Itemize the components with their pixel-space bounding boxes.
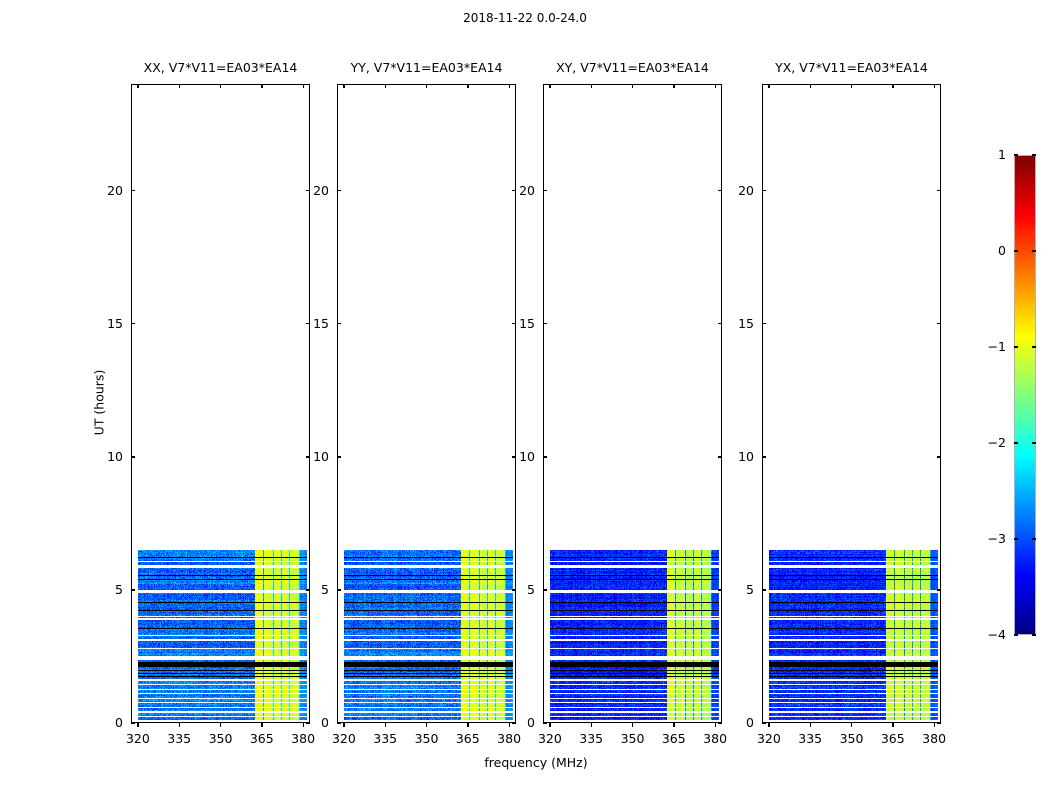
x-tick-yy-350	[426, 723, 427, 727]
y-tick-right-yx-5	[937, 589, 941, 590]
colorbar-tick-right-−2	[1032, 442, 1036, 443]
x-tick-top-xx-380	[303, 84, 304, 88]
y-ticklabel-yx-0: 0	[714, 715, 754, 730]
y-tick-yx-15	[762, 323, 766, 324]
y-ticklabel-xy-10: 10	[495, 449, 535, 464]
y-tick-right-yx-15	[937, 323, 941, 324]
x-tick-xx-335	[179, 723, 180, 727]
figure-suptitle: 2018-11-22 0.0-24.0	[0, 11, 1050, 25]
x-tick-top-xx-350	[220, 84, 221, 88]
y-tick-xy-15	[543, 323, 547, 324]
x-tick-top-yx-320	[768, 84, 769, 88]
y-tick-yy-10	[337, 456, 341, 457]
y-tick-xy-20	[543, 190, 547, 191]
x-tick-top-xx-320	[137, 84, 138, 88]
colorbar-tick-right-−4	[1032, 634, 1036, 635]
x-tick-top-yy-380	[509, 84, 510, 88]
colorbar-ticklabel-0: 0	[966, 243, 1006, 258]
y-ticklabel-xx-15: 15	[83, 316, 123, 331]
y-tick-yy-15	[337, 323, 341, 324]
x-tick-xy-350	[632, 723, 633, 727]
waterfall-image-xx	[132, 85, 310, 723]
colorbar-tick-0	[1014, 250, 1018, 251]
colorbar-ticklabel-1: 1	[966, 147, 1006, 162]
y-ticklabel-yy-5: 5	[289, 582, 329, 597]
colorbar-tick-right-−1	[1032, 346, 1036, 347]
y-tick-xy-10	[543, 456, 547, 457]
x-tick-yy-365	[467, 723, 468, 727]
y-tick-xx-5	[131, 589, 135, 590]
y-ticklabel-xy-20: 20	[495, 183, 535, 198]
x-tick-top-yy-365	[467, 84, 468, 88]
y-tick-xx-15	[131, 323, 135, 324]
x-tick-top-yy-335	[385, 84, 386, 88]
colorbar-ticklabel-−2: −2	[966, 435, 1006, 450]
y-ticklabel-yy-20: 20	[289, 183, 329, 198]
y-ticklabel-xy-0: 0	[495, 715, 535, 730]
y-ticklabel-yx-10: 10	[714, 449, 754, 464]
panel-yx[interactable]	[762, 84, 941, 723]
colorbar-gradient	[1015, 156, 1036, 635]
x-tick-top-yy-320	[343, 84, 344, 88]
x-tick-yy-335	[385, 723, 386, 727]
x-tick-xy-320	[549, 723, 550, 727]
y-tick-yx-10	[762, 456, 766, 457]
y-ticklabel-xx-5: 5	[83, 582, 123, 597]
y-ticklabel-yy-0: 0	[289, 715, 329, 730]
y-tick-xx-10	[131, 456, 135, 457]
colorbar-tick-right-1	[1032, 154, 1036, 155]
x-tick-yx-350	[851, 723, 852, 727]
y-tick-xy-5	[543, 589, 547, 590]
y-tick-yy-0	[337, 723, 341, 724]
panel-yy[interactable]	[337, 84, 516, 723]
y-ticklabel-yy-15: 15	[289, 316, 329, 331]
x-tick-yx-320	[768, 723, 769, 727]
waterfall-image-yx	[763, 85, 941, 723]
x-tick-top-xy-350	[632, 84, 633, 88]
colorbar-tick-−4	[1014, 634, 1018, 635]
x-tick-top-yx-365	[892, 84, 893, 88]
panel-xx[interactable]	[131, 84, 310, 723]
y-ticklabel-xy-15: 15	[495, 316, 535, 331]
y-ticklabel-xy-5: 5	[495, 582, 535, 597]
x-tick-top-yy-350	[426, 84, 427, 88]
x-tick-top-xy-335	[591, 84, 592, 88]
y-ticklabel-yx-15: 15	[714, 316, 754, 331]
colorbar-ticklabel-−4: −4	[966, 627, 1006, 642]
y-ticklabel-xx-0: 0	[83, 715, 123, 730]
y-tick-xx-20	[131, 190, 135, 191]
x-tick-xy-365	[673, 723, 674, 727]
y-tick-right-yx-20	[937, 190, 941, 191]
x-tick-top-yx-380	[934, 84, 935, 88]
colorbar-tick-−2	[1014, 442, 1018, 443]
y-tick-right-yx-10	[937, 456, 941, 457]
colorbar[interactable]	[1014, 155, 1036, 635]
x-tick-yy-320	[343, 723, 344, 727]
x-tick-top-xy-320	[549, 84, 550, 88]
y-axis-label: UT (hours)	[92, 342, 107, 462]
colorbar-tick-right-0	[1032, 250, 1036, 251]
x-tick-xx-350	[220, 723, 221, 727]
y-tick-yx-20	[762, 190, 766, 191]
y-tick-yx-0	[762, 723, 766, 724]
x-ticklabel-yx-380: 380	[909, 731, 959, 746]
y-ticklabel-yx-5: 5	[714, 582, 754, 597]
panel-title-yx: YX, V7*V11=EA03*EA14	[712, 60, 991, 75]
x-tick-top-xx-365	[261, 84, 262, 88]
waterfall-image-xy	[544, 85, 722, 723]
y-tick-yx-5	[762, 589, 766, 590]
x-axis-label: frequency (MHz)	[0, 755, 1050, 770]
colorbar-tick-−3	[1014, 538, 1018, 539]
x-tick-xy-335	[591, 723, 592, 727]
y-tick-xx-0	[131, 723, 135, 724]
y-tick-yy-5	[337, 589, 341, 590]
x-tick-top-xx-335	[179, 84, 180, 88]
colorbar-tick-1	[1014, 154, 1018, 155]
y-ticklabel-yx-20: 20	[714, 183, 754, 198]
x-tick-yx-365	[892, 723, 893, 727]
y-ticklabel-yy-10: 10	[289, 449, 329, 464]
colorbar-ticklabel-−1: −1	[966, 339, 1006, 354]
x-ticklabel-xy-380: 380	[690, 731, 740, 746]
figure-canvas: 2018-11-22 0.0-24.0 log10 amplitude freq…	[0, 0, 1050, 800]
waterfall-image-yy	[338, 85, 516, 723]
x-tick-xx-365	[261, 723, 262, 727]
colorbar-ticklabel-−3: −3	[966, 531, 1006, 546]
panel-xy[interactable]	[543, 84, 722, 723]
x-tick-top-xy-365	[673, 84, 674, 88]
x-tick-xx-320	[137, 723, 138, 727]
x-tick-yx-335	[810, 723, 811, 727]
y-tick-right-yx-0	[937, 723, 941, 724]
x-tick-yx-380	[934, 723, 935, 727]
x-tick-top-yx-350	[851, 84, 852, 88]
x-tick-top-yx-335	[810, 84, 811, 88]
colorbar-tick-−1	[1014, 346, 1018, 347]
colorbar-tick-right-−3	[1032, 538, 1036, 539]
x-tick-top-xy-380	[715, 84, 716, 88]
y-ticklabel-xx-20: 20	[83, 183, 123, 198]
y-tick-yy-20	[337, 190, 341, 191]
y-ticklabel-xx-10: 10	[83, 449, 123, 464]
y-tick-xy-0	[543, 723, 547, 724]
